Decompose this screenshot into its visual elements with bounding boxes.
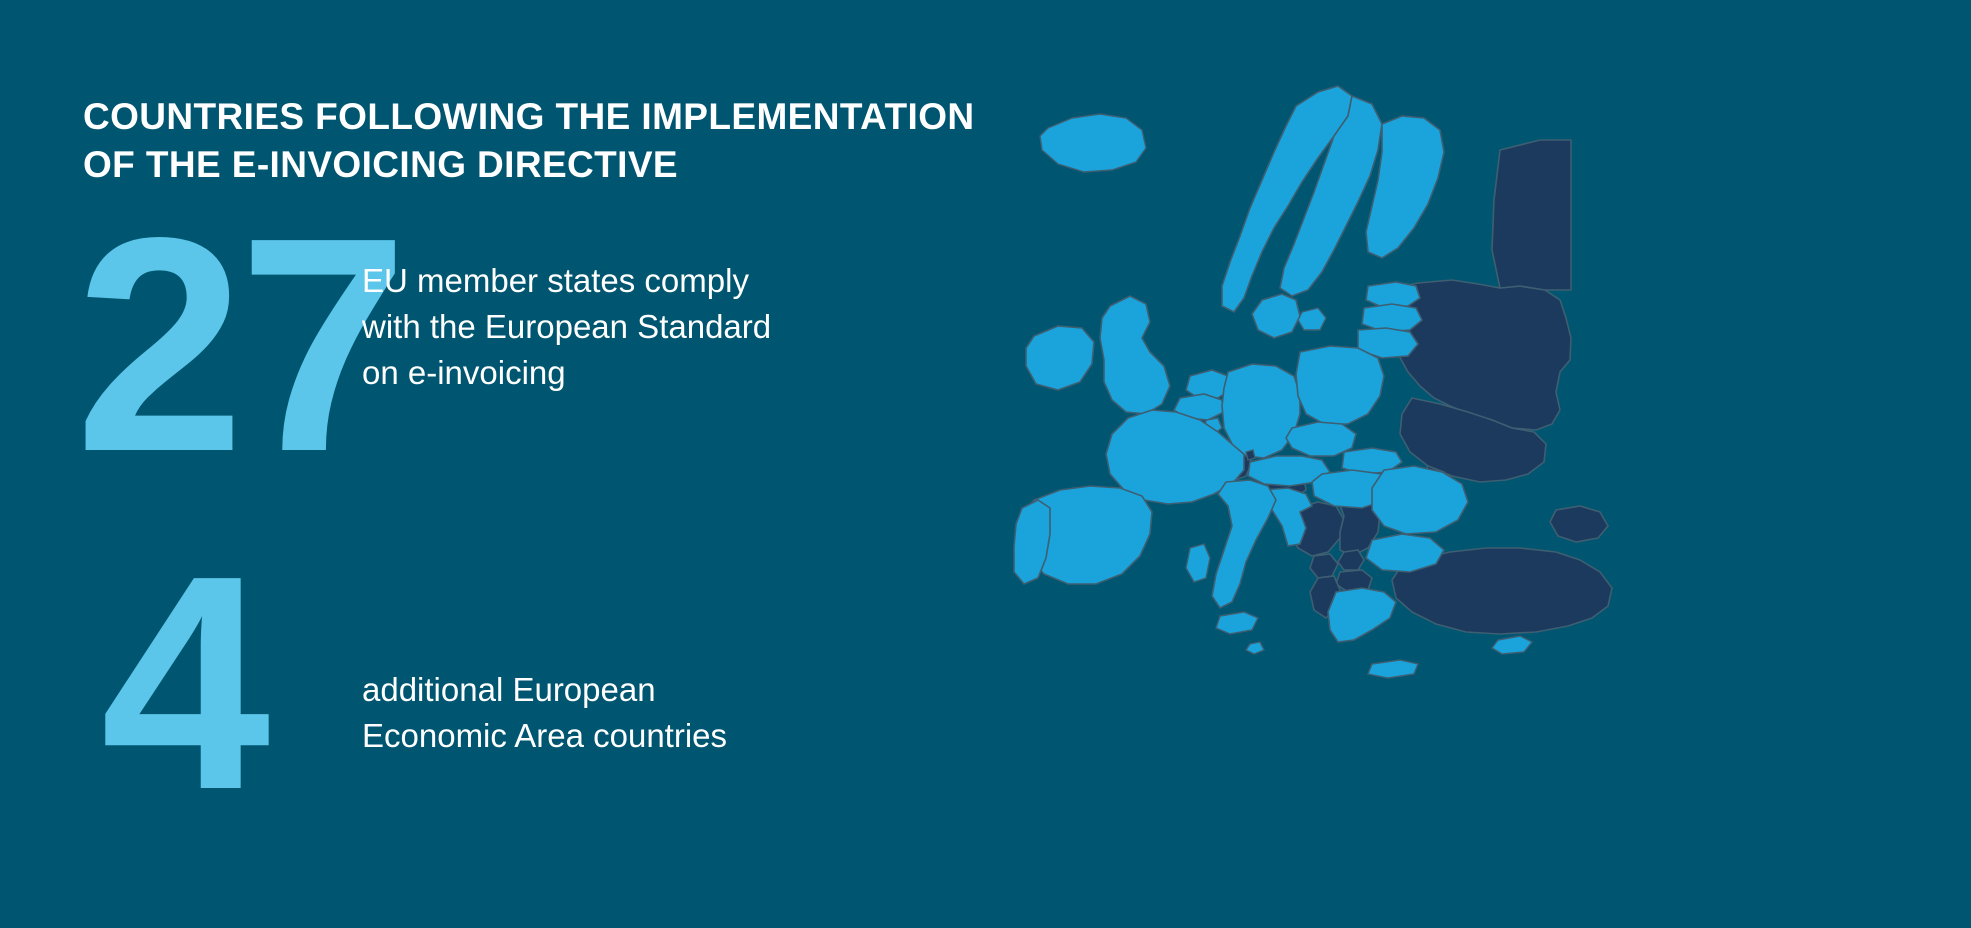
stat-number-4: 4 bbox=[75, 570, 290, 796]
country-caucasus bbox=[1550, 506, 1608, 542]
stat-block-eu-member-states: 27 EU member states comply with the Euro… bbox=[75, 232, 975, 458]
stat-block-eea-countries: 4 additional European Economic Area coun… bbox=[75, 570, 975, 796]
infographic-root: COUNTRIES FOLLOWING THE IMPLEMENTATION O… bbox=[0, 0, 1971, 928]
stat-4-line-1: additional European bbox=[362, 667, 727, 713]
left-content-panel: COUNTRIES FOLLOWING THE IMPLEMENTATION O… bbox=[0, 0, 1030, 928]
stat-number-27: 27 bbox=[75, 232, 290, 458]
europe-map-panel: .hi { fill: #1BA3DB; stroke: #3E5E72; st… bbox=[1000, 0, 1971, 928]
stat-description-4: additional European Economic Area countr… bbox=[290, 570, 727, 759]
country-liechtenstein bbox=[1246, 450, 1255, 460]
stat-description-27: EU member states comply with the Europea… bbox=[290, 232, 771, 397]
italy-sicily-island bbox=[1216, 612, 1258, 634]
europe-map: .hi { fill: #1BA3DB; stroke: #3E5E72; st… bbox=[1000, 0, 1971, 928]
stat-27-line-2: with the European Standard bbox=[362, 304, 771, 350]
stat-27-line-3: on e-invoicing bbox=[362, 350, 771, 396]
country-russia-northeast bbox=[1492, 140, 1571, 290]
country-latvia bbox=[1362, 304, 1422, 332]
stat-27-line-1: EU member states comply bbox=[362, 258, 771, 304]
title-line-1: COUNTRIES FOLLOWING THE IMPLEMENTATION bbox=[83, 93, 983, 141]
stat-4-line-2: Economic Area countries bbox=[362, 713, 727, 759]
